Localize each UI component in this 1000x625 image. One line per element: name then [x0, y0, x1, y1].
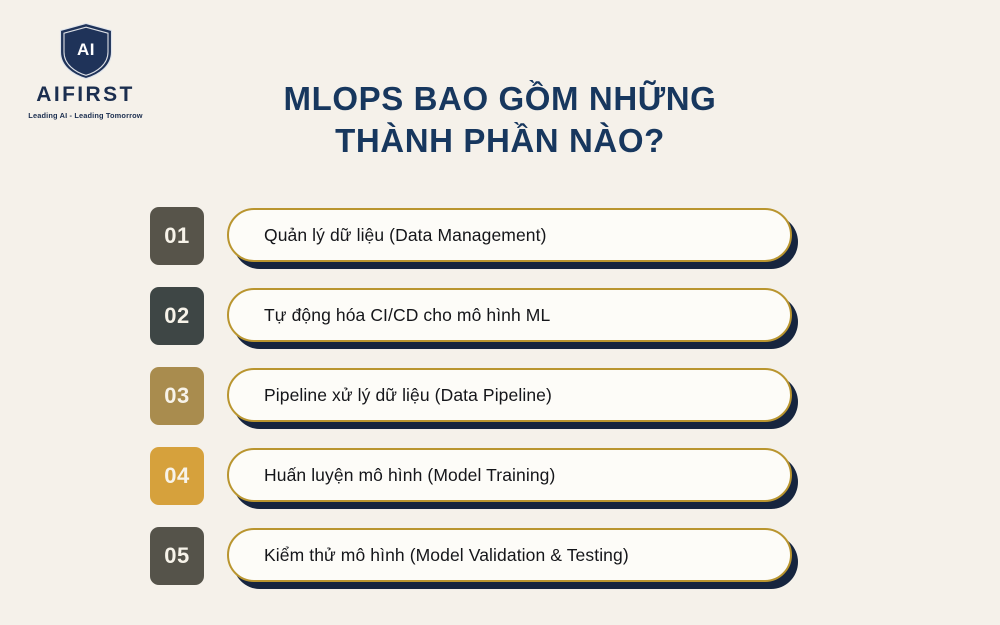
list-item-label: Huấn luyện mô hình (Model Training): [264, 465, 555, 486]
svg-text:AI: AI: [77, 40, 95, 59]
page-title-line-2: THÀNH PHẦN NÀO?: [230, 120, 770, 162]
list-item-label: Tự động hóa CI/CD cho mô hình ML: [264, 305, 550, 326]
list-item-number: 04: [164, 463, 189, 489]
list-item-number-badge: 01: [150, 207, 204, 265]
component-list: 01 Quản lý dữ liệu (Data Management) 02 …: [150, 205, 850, 605]
logo-tagline: Leading AI - Leading Tomorrow: [18, 112, 153, 119]
list-item-label: Quản lý dữ liệu (Data Management): [264, 225, 547, 246]
list-item-pill-wrap: Kiểm thử mô hình (Model Validation & Tes…: [227, 528, 792, 584]
ai-shield-icon: AI: [58, 22, 114, 80]
list-item-pill-wrap: Pipeline xử lý dữ liệu (Data Pipeline): [227, 368, 792, 424]
list-item-label: Pipeline xử lý dữ liệu (Data Pipeline): [264, 385, 552, 406]
list-item: 05 Kiểm thử mô hình (Model Validation & …: [150, 525, 850, 587]
logo-wordmark: AIFIRST: [18, 84, 153, 105]
list-item-number: 03: [164, 383, 189, 409]
list-item-pill[interactable]: Huấn luyện mô hình (Model Training): [227, 448, 792, 502]
page-title-line-1: MLOPS BAO GỒM NHỮNG: [230, 78, 770, 120]
brand-logo: AI AIFIRST Leading AI - Leading Tomorrow: [18, 22, 153, 119]
list-item-pill-wrap: Tự động hóa CI/CD cho mô hình ML: [227, 288, 792, 344]
list-item-number: 05: [164, 543, 189, 569]
list-item: 02 Tự động hóa CI/CD cho mô hình ML: [150, 285, 850, 347]
list-item: 01 Quản lý dữ liệu (Data Management): [150, 205, 850, 267]
list-item-pill[interactable]: Pipeline xử lý dữ liệu (Data Pipeline): [227, 368, 792, 422]
list-item: 03 Pipeline xử lý dữ liệu (Data Pipeline…: [150, 365, 850, 427]
list-item: 04 Huấn luyện mô hình (Model Training): [150, 445, 850, 507]
list-item-pill[interactable]: Kiểm thử mô hình (Model Validation & Tes…: [227, 528, 792, 582]
list-item-label: Kiểm thử mô hình (Model Validation & Tes…: [264, 545, 629, 566]
list-item-number-badge: 03: [150, 367, 204, 425]
list-item-pill[interactable]: Quản lý dữ liệu (Data Management): [227, 208, 792, 262]
list-item-pill-wrap: Quản lý dữ liệu (Data Management): [227, 208, 792, 264]
list-item-pill-wrap: Huấn luyện mô hình (Model Training): [227, 448, 792, 504]
list-item-number: 02: [164, 303, 189, 329]
list-item-number-badge: 04: [150, 447, 204, 505]
list-item-number-badge: 05: [150, 527, 204, 585]
list-item-number: 01: [164, 223, 189, 249]
list-item-pill[interactable]: Tự động hóa CI/CD cho mô hình ML: [227, 288, 792, 342]
list-item-number-badge: 02: [150, 287, 204, 345]
page-title: MLOPS BAO GỒM NHỮNG THÀNH PHẦN NÀO?: [230, 78, 770, 162]
